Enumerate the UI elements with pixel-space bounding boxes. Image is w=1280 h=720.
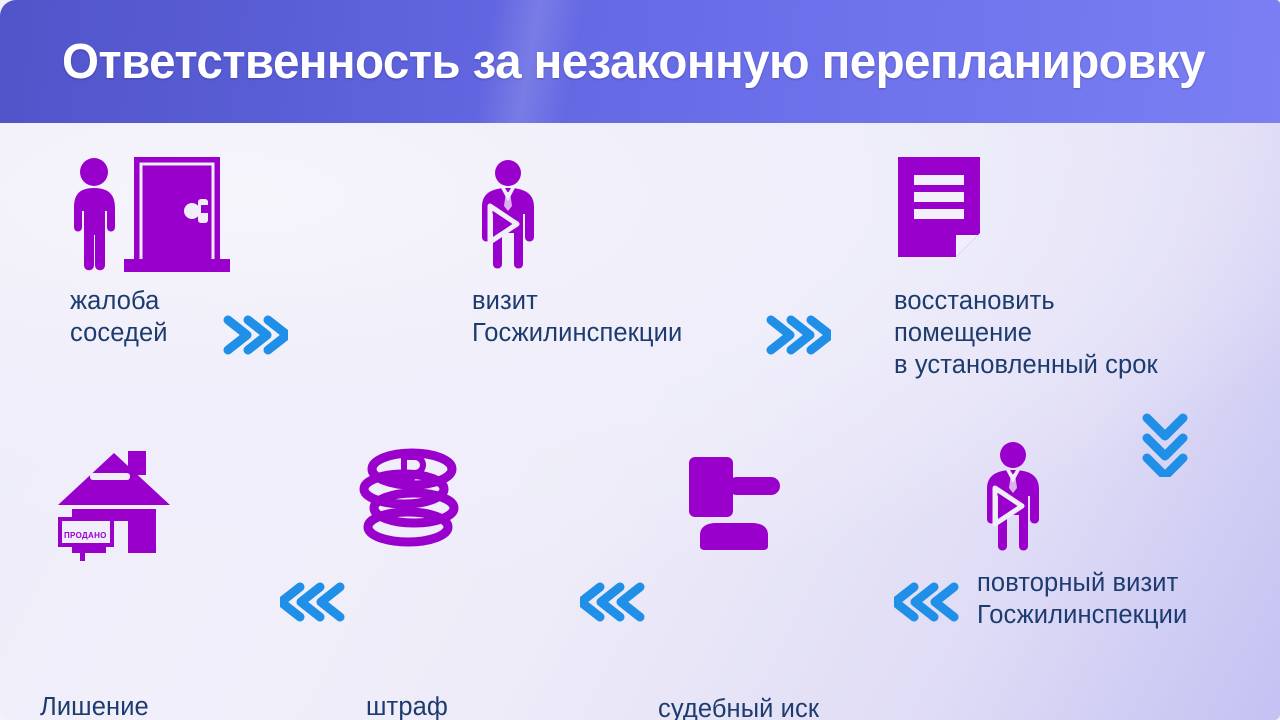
chevron-right-triple-icon	[222, 311, 288, 359]
chevron-left-triple-icon	[580, 578, 646, 626]
chevron-left-triple-icon	[894, 578, 960, 626]
step-restore-premises-label: восстановить помещение в установленный с…	[894, 285, 1158, 381]
page-title: Ответственность за незаконную перепланир…	[62, 34, 1205, 90]
slide-header-bar: Ответственность за незаконную перепланир…	[0, 0, 1280, 123]
inspector-person-icon	[470, 159, 546, 276]
step-inspection-visit-label: визит Госжилинспекции	[472, 285, 682, 349]
coins-ruble-icon	[356, 443, 468, 558]
chevron-left-triple-icon	[280, 578, 346, 626]
document-icon	[898, 157, 996, 266]
step-repeat-visit-label: повторный визит Госжилинспекции	[977, 567, 1187, 631]
house-sold-sign-text: ПРОДАНО	[64, 531, 107, 540]
person-at-door-icon	[68, 155, 233, 278]
gavel-icon	[678, 443, 788, 558]
chevron-right-triple-icon	[765, 311, 831, 359]
infographic-body: жалоба соседей	[0, 123, 1280, 720]
infographic-slide: Ответственность за незаконную перепланир…	[0, 0, 1280, 720]
inspector-person-icon	[975, 441, 1051, 558]
house-sold-icon	[50, 443, 178, 566]
step-loss-of-ownership-label: Лишение права собственности	[40, 691, 216, 720]
step-complaint-label: жалоба соседей	[70, 285, 168, 349]
step-fine-label: штраф	[366, 691, 448, 720]
chevron-down-triple-icon	[1139, 411, 1191, 477]
step-lawsuit-label: судебный иск	[658, 693, 819, 720]
